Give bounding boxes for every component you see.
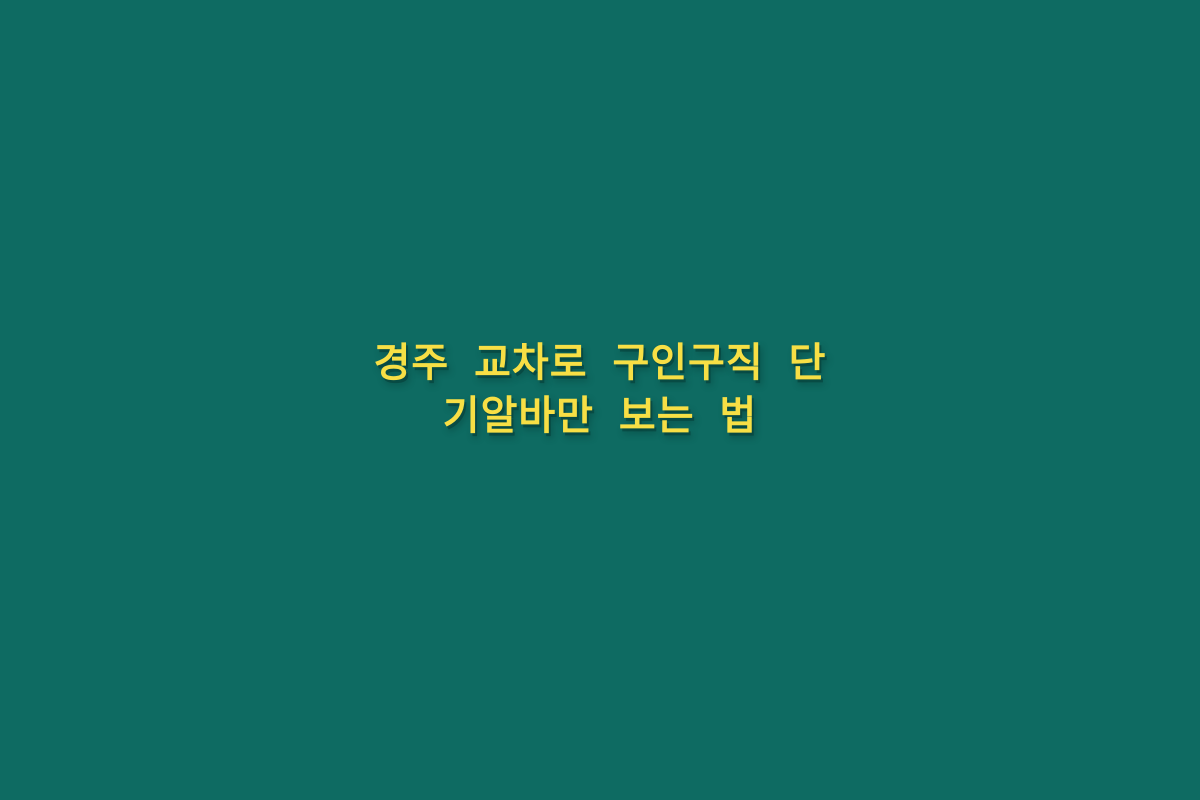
headline-line-2: 기알바만 보는 법 (70, 391, 1130, 442)
thumbnail-card: 경주 교차로 구인구직 단 기알바만 보는 법 (0, 0, 1200, 800)
headline-block: 경주 교차로 구인구직 단 기알바만 보는 법 (50, 338, 1150, 442)
headline-line-1: 경주 교차로 구인구직 단 (70, 338, 1130, 389)
